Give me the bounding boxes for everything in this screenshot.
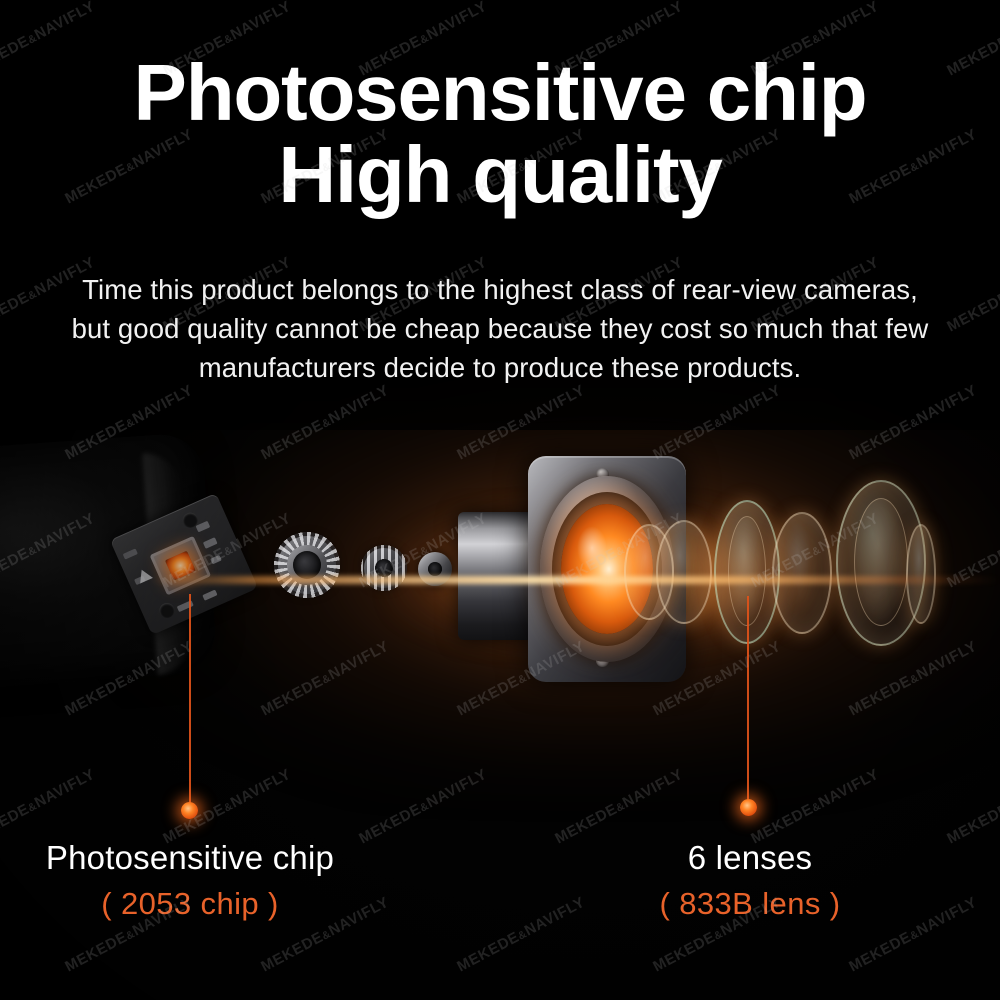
callout-subtitle: ( 2053 chip ) bbox=[30, 884, 350, 924]
callout-photosensitive-chip: Photosensitive chip ( 2053 chip ) bbox=[30, 838, 350, 925]
marker-dot-chip bbox=[181, 802, 198, 819]
page-title: Photosensitive chip High quality bbox=[0, 52, 1000, 217]
leader-line-chip bbox=[189, 594, 191, 808]
marker-dot-lenses bbox=[740, 799, 757, 816]
callout-lenses: 6 lenses ( 833B lens ) bbox=[600, 838, 900, 925]
product-feature-poster: Photosensitive chip High quality Time th… bbox=[0, 0, 1000, 1000]
leader-line-lenses bbox=[747, 596, 749, 806]
headline-line-1: Photosensitive chip bbox=[134, 48, 867, 137]
callout-title: Photosensitive chip bbox=[30, 838, 350, 878]
callout-subtitle: ( 833B lens ) bbox=[600, 884, 900, 924]
headline-line-2: High quality bbox=[0, 134, 1000, 216]
callout-title: 6 lenses bbox=[600, 838, 900, 878]
description-paragraph: Time this product belongs to the highest… bbox=[68, 270, 932, 387]
